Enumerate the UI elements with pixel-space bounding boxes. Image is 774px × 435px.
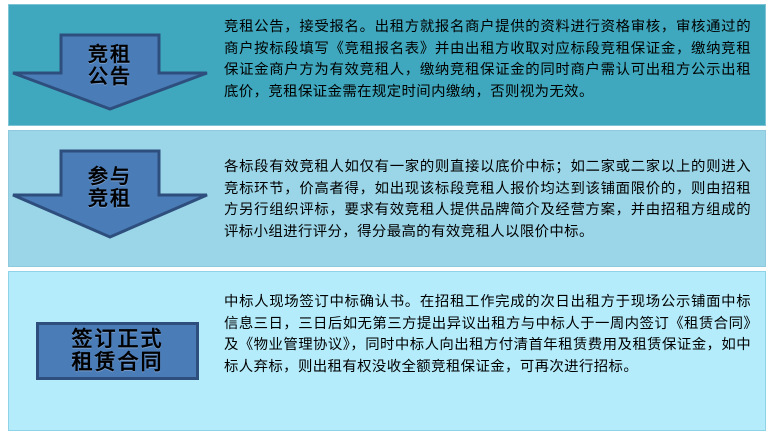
stage-row-2: 参与 竞租 各标段有效竞租人如仅有一家的则直接以底价中标；如二家或二家以上的则进…: [8, 130, 766, 267]
process-flow-diagram: 竞租 公告 竞租公告，接受报名。出租方就报名商户提供的资料进行资格审核，审核通过…: [0, 0, 774, 435]
stage-1-arrow-shape: 竞租 公告: [11, 33, 209, 111]
stage-row-1: 竞租 公告 竞租公告，接受报名。出租方就报名商户提供的资料进行资格审核，审核通过…: [8, 4, 766, 126]
stage-row-3: 签订正式 租赁合同 中标人现场签订中标确认书。在招租工作完成的次日出租方于现场公…: [8, 271, 766, 431]
stage-3-description: 中标人现场签订中标确认书。在招租工作完成的次日出租方于现场公示铺面中标信息三日，…: [224, 292, 751, 378]
stage-3-rectangle-shape: 签订正式 租赁合同: [36, 322, 199, 380]
stage-2-label: 参与 竞租: [88, 166, 132, 209]
stage-2-description: 各标段有效竞租人如仅有一家的则直接以底价中标；如二家或二家以上的则进入竞标环节，…: [224, 157, 751, 243]
stage-3-label: 签订正式 租赁合同: [72, 328, 164, 373]
stage-1-label: 竞租 公告: [88, 44, 132, 87]
stage-1-description: 竞租公告，接受报名。出租方就报名商户提供的资料进行资格审核，审核通过的商户按标段…: [224, 17, 751, 103]
stage-2-arrow-shape: 参与 竞租: [11, 149, 209, 239]
